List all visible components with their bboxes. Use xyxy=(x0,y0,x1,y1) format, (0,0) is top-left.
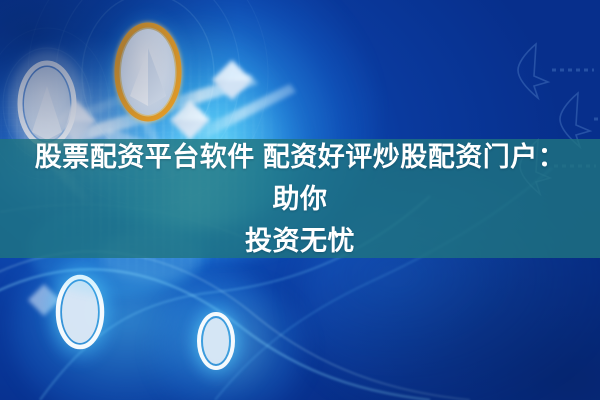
banner-image: 股票配资平台软件 配资好评炒股配资门户：助你 投资无忧 xyxy=(0,0,600,400)
headline-line-2: 投资无忧 xyxy=(22,220,578,262)
headline-overlay-band: 股票配资平台软件 配资好评炒股配资门户：助你 投资无忧 xyxy=(0,139,600,258)
headline-line-1: 股票配资平台软件 配资好评炒股配资门户：助你 xyxy=(22,136,578,220)
